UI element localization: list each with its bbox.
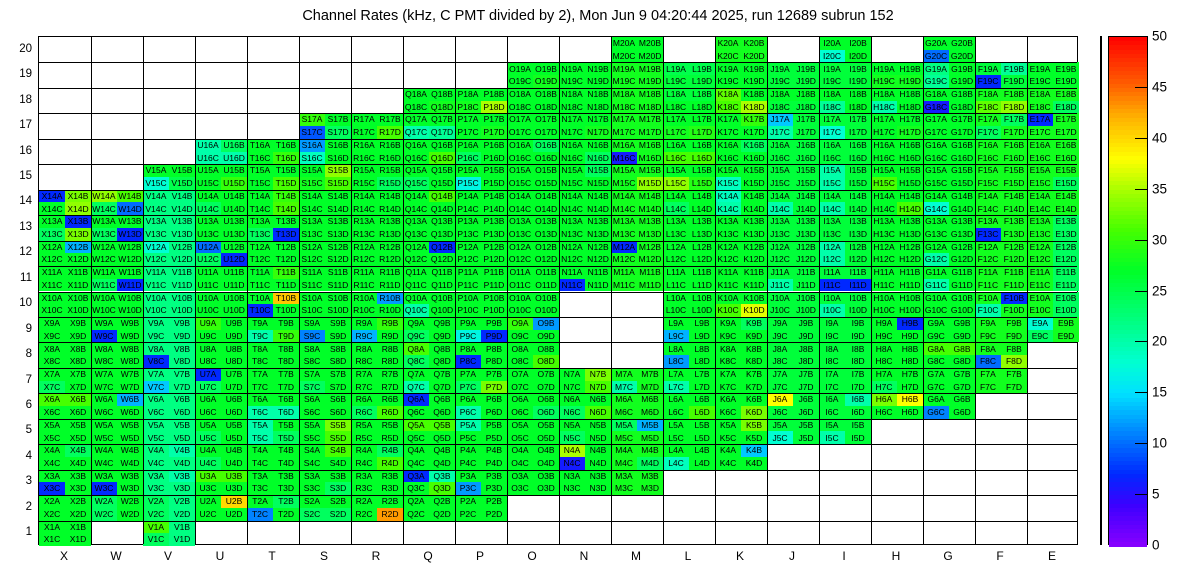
heatmap-cell: X6C: [39, 406, 65, 419]
heatmap-cell: R3D: [377, 482, 403, 495]
heatmap-cell: S2C: [299, 508, 325, 521]
heatmap-cell: O4B: [533, 444, 559, 457]
grid-line-horizontal: [39, 266, 1077, 267]
heatmap-cell: X1C: [39, 533, 65, 546]
heatmap-cell: Q9C: [403, 330, 429, 343]
heatmap-cell: L8D: [689, 355, 715, 368]
heatmap-cell: G15B: [949, 164, 975, 177]
heatmap-cell: U14B: [221, 190, 247, 203]
heatmap-cell: T8C: [247, 355, 273, 368]
heatmap-cell: K10B: [741, 292, 767, 305]
heatmap-cell: P15D: [481, 177, 507, 190]
heatmap-cell: X8D: [65, 355, 91, 368]
heatmap-cell: W12B: [117, 241, 143, 254]
heatmap-cell: L6A: [663, 393, 689, 406]
heatmap-cell: I6C: [819, 406, 845, 419]
heatmap-cell: V12A: [143, 241, 169, 254]
heatmap-cell: J9A: [767, 317, 793, 330]
heatmap-cell: F16D: [1001, 152, 1027, 165]
heatmap-cell: O16C: [507, 152, 533, 165]
heatmap-cell: H10C: [871, 304, 897, 317]
heatmap-cell: N5A: [559, 419, 585, 432]
heatmap-cell: U6B: [221, 393, 247, 406]
heatmap-cell: I15B: [845, 164, 871, 177]
heatmap-cell: P5B: [481, 419, 507, 432]
heatmap-cell: R7C: [351, 381, 377, 394]
heatmap-cell: J19A: [767, 62, 793, 75]
heatmap-cell: H12A: [871, 241, 897, 254]
heatmap-cell: X12B: [65, 241, 91, 254]
x-axis-labels: XWVUTSRQPONMLKJIHGFE: [38, 549, 1078, 569]
heatmap-cell: R17B: [377, 113, 403, 126]
heatmap-cell: M20B: [637, 37, 663, 50]
heatmap-cell: P5D: [481, 431, 507, 444]
heatmap-cell: F14B: [1001, 190, 1027, 203]
heatmap-cell: K20A: [715, 37, 741, 50]
heatmap-cell: X4C: [39, 457, 65, 470]
heatmap-cell: H12C: [871, 253, 897, 266]
heatmap-cell: E13D: [1053, 228, 1079, 241]
heatmap-cell: J16D: [793, 152, 819, 165]
heatmap-cell: Q13D: [429, 228, 455, 241]
heatmap-cell: O8B: [533, 342, 559, 355]
heatmap-cell: M3C: [611, 482, 637, 495]
heatmap-cell: S2B: [325, 495, 351, 508]
heatmap-cell: G7A: [923, 368, 949, 381]
heatmap-cell: N16C: [559, 152, 585, 165]
heatmap-cell: R4C: [351, 457, 377, 470]
heatmap-cell: T14D: [273, 202, 299, 215]
heatmap-cell: P13C: [455, 228, 481, 241]
heatmap-cell: R14A: [351, 190, 377, 203]
heatmap-cell: V13B: [169, 215, 195, 228]
heatmap-cell: K13D: [741, 228, 767, 241]
heatmap-cell: Q17D: [429, 126, 455, 139]
x-axis-tick-label: K: [714, 549, 766, 563]
heatmap-cell: P16A: [455, 139, 481, 152]
heatmap-cell: V9A: [143, 317, 169, 330]
heatmap-cell: Q15B: [429, 164, 455, 177]
heatmap-cell: Q4D: [429, 457, 455, 470]
heatmap-cell: M18B: [637, 88, 663, 101]
heatmap-cell: J11C: [767, 279, 793, 292]
heatmap-cell: S4B: [325, 444, 351, 457]
heatmap-cell: E15D: [1053, 177, 1079, 190]
heatmap-cell: F9C: [975, 330, 1001, 343]
heatmap-cell: F10B: [1001, 292, 1027, 305]
heatmap-cell: M7A: [611, 368, 637, 381]
heatmap-cell: L16D: [689, 152, 715, 165]
heatmap-cell: I8A: [819, 342, 845, 355]
heatmap-cell: I5C: [819, 431, 845, 444]
heatmap-cell: W10B: [117, 292, 143, 305]
heatmap-cell: O14C: [507, 202, 533, 215]
heatmap-cell: O16B: [533, 139, 559, 152]
heatmap-cell: P3B: [481, 470, 507, 483]
heatmap-cell: X14D: [65, 202, 91, 215]
heatmap-cell: U3C: [195, 482, 221, 495]
heatmap-cell: O11A: [507, 266, 533, 279]
heatmap-cell: E16B: [1053, 139, 1079, 152]
heatmap-cell: L17A: [663, 113, 689, 126]
heatmap-cell: S13C: [299, 228, 325, 241]
heatmap-cell: I17B: [845, 113, 871, 126]
y-axis-tick-label: 5: [6, 424, 32, 436]
heatmap-cell: H15D: [897, 177, 923, 190]
heatmap-cell: G20C: [923, 50, 949, 63]
heatmap-cell: T7A: [247, 368, 273, 381]
heatmap-cell: E17A: [1027, 113, 1053, 126]
heatmap-cell: I14C: [819, 202, 845, 215]
heatmap-cell: M18C: [611, 101, 637, 114]
grid-line-horizontal: [39, 419, 1077, 420]
heatmap-cell: X11D: [65, 279, 91, 292]
heatmap-cell: Q8B: [429, 342, 455, 355]
heatmap-cell: M19C: [611, 75, 637, 88]
heatmap-cell: T6D: [273, 406, 299, 419]
heatmap-cell: O3C: [507, 482, 533, 495]
heatmap-cell: K19D: [741, 75, 767, 88]
heatmap-cell: T11C: [247, 279, 273, 292]
heatmap-cell: X1D: [65, 533, 91, 546]
heatmap-cell: E13B: [1053, 215, 1079, 228]
heatmap-cell: N7C: [559, 381, 585, 394]
heatmap-cell: X2B: [65, 495, 91, 508]
heatmap-cell: P16C: [455, 152, 481, 165]
heatmap-cell: N3D: [585, 482, 611, 495]
heatmap-cell: N17D: [585, 126, 611, 139]
heatmap-cell: G7D: [949, 381, 975, 394]
heatmap-cell: U5A: [195, 419, 221, 432]
heatmap-cell: J12C: [767, 253, 793, 266]
heatmap-cell: T16A: [247, 139, 273, 152]
heatmap-cell: P12A: [455, 241, 481, 254]
heatmap-cell: E12B: [1053, 241, 1079, 254]
grid-line-horizontal: [39, 215, 1077, 216]
heatmap-cell: I19C: [819, 75, 845, 88]
heatmap-cell: H9B: [897, 317, 923, 330]
y-axis-tick-label: 11: [6, 272, 32, 284]
heatmap-cell: K18A: [715, 88, 741, 101]
heatmap-cell: M17D: [637, 126, 663, 139]
heatmap-cell: L11B: [689, 266, 715, 279]
heatmap-cell: F13D: [1001, 228, 1027, 241]
y-axis-tick-label: 3: [6, 475, 32, 487]
heatmap-cell: S17B: [325, 113, 351, 126]
heatmap-cell: H13D: [897, 228, 923, 241]
heatmap-cell: G6A: [923, 393, 949, 406]
y-axis-tick-label: 9: [6, 323, 32, 335]
heatmap-cell: G14A: [923, 190, 949, 203]
heatmap-cell: M20D: [637, 50, 663, 63]
heatmap-cell: M12D: [637, 253, 663, 266]
heatmap-cell: F18C: [975, 101, 1001, 114]
heatmap-cell: T5C: [247, 431, 273, 444]
heatmap-cell: R6A: [351, 393, 377, 406]
heatmap-cell: P15B: [481, 164, 507, 177]
heatmap-cell: P11C: [455, 279, 481, 292]
heatmap-cell: R4B: [377, 444, 403, 457]
heatmap-cell: G16B: [949, 139, 975, 152]
heatmap-cell: G16D: [949, 152, 975, 165]
heatmap-cell: W3A: [91, 470, 117, 483]
heatmap-cell: G13A: [923, 215, 949, 228]
heatmap-cell: F18B: [1001, 88, 1027, 101]
heatmap-cell: F18D: [1001, 101, 1027, 114]
heatmap-cell: O4D: [533, 457, 559, 470]
heatmap-cell: O19C: [507, 75, 533, 88]
heatmap-cell: G18C: [923, 101, 949, 114]
heatmap-cell: H15B: [897, 164, 923, 177]
heatmap-cell: M19B: [637, 62, 663, 75]
heatmap-cell: I18C: [819, 101, 845, 114]
heatmap-cell: E19B: [1053, 62, 1079, 75]
heatmap-cell: T8B: [273, 342, 299, 355]
heatmap-cell: T2D: [273, 508, 299, 521]
heatmap-cell: J19D: [793, 75, 819, 88]
heatmap-cell: M5C: [611, 431, 637, 444]
heatmap-cell: P16D: [481, 152, 507, 165]
heatmap-cell: S3C: [299, 482, 325, 495]
heatmap-cell: H12B: [897, 241, 923, 254]
heatmap-cell: N6A: [559, 393, 585, 406]
heatmap-cell: I16B: [845, 139, 871, 152]
heatmap-cell: M17A: [611, 113, 637, 126]
heatmap-cell: Q9B: [429, 317, 455, 330]
heatmap-cell: H10A: [871, 292, 897, 305]
heatmap-cell: T12B: [273, 241, 299, 254]
heatmap-cell: E10D: [1053, 304, 1079, 317]
heatmap-cell: H6A: [871, 393, 897, 406]
heatmap-cell: U9D: [221, 330, 247, 343]
heatmap-cell: E14A: [1027, 190, 1053, 203]
heatmap-cell: H8B: [897, 342, 923, 355]
heatmap-cell: L13B: [689, 215, 715, 228]
heatmap-cell: S6B: [325, 393, 351, 406]
heatmap-cell: F10C: [975, 304, 1001, 317]
heatmap-cell: L12A: [663, 241, 689, 254]
heatmap-cell: G8A: [923, 342, 949, 355]
heatmap-cell: U8C: [195, 355, 221, 368]
colorbar-tick-mark: [1135, 291, 1148, 292]
colorbar-tick-mark: [1135, 240, 1148, 241]
heatmap-cell: G15D: [949, 177, 975, 190]
heatmap-cell: R11D: [377, 279, 403, 292]
heatmap-cell: O3B: [533, 470, 559, 483]
heatmap-cell: E12C: [1027, 253, 1053, 266]
heatmap-cell: R13C: [351, 228, 377, 241]
x-axis-tick-label: F: [974, 549, 1026, 563]
heatmap-cell: H16C: [871, 152, 897, 165]
heatmap-cell: X1A: [39, 521, 65, 534]
heatmap-cell: E19C: [1027, 75, 1053, 88]
heatmap-cell: U16A: [195, 139, 221, 152]
heatmap-cell: V1D: [169, 533, 195, 546]
heatmap-cell: Q16B: [429, 139, 455, 152]
heatmap-cell: K20C: [715, 50, 741, 63]
heatmap-cell: I12D: [845, 253, 871, 266]
heatmap-cell: H7C: [871, 381, 897, 394]
heatmap-cell: I15C: [819, 177, 845, 190]
heatmap-cell: N18D: [585, 101, 611, 114]
heatmap-cell: V3C: [143, 482, 169, 495]
heatmap-cell: Q9A: [403, 317, 429, 330]
heatmap-cell: X10C: [39, 304, 65, 317]
heatmap-cell: J15C: [767, 177, 793, 190]
heatmap-cell: O9C: [507, 330, 533, 343]
colorbar-tick-label: 30: [1152, 232, 1167, 247]
heatmap-cell: W2B: [117, 495, 143, 508]
heatmap-cell: Q7D: [429, 381, 455, 394]
heatmap-cell: I13C: [819, 228, 845, 241]
heatmap-cell: Q14C: [403, 202, 429, 215]
heatmap-cell: H13C: [871, 228, 897, 241]
heatmap-cell: P6B: [481, 393, 507, 406]
y-axis-tick-label: 7: [6, 374, 32, 386]
heatmap-cell: F15D: [1001, 177, 1027, 190]
grid-line-horizontal: [39, 470, 1077, 471]
heatmap-cell: R6B: [377, 393, 403, 406]
heatmap-cell: N18C: [559, 101, 585, 114]
heatmap-cell: O15B: [533, 164, 559, 177]
colorbar-tick-label: 45: [1152, 79, 1167, 94]
heatmap-cell: H8C: [871, 355, 897, 368]
heatmap-cell: G17C: [923, 126, 949, 139]
heatmap-cell: L19C: [663, 75, 689, 88]
heatmap-cell: V7C: [143, 381, 169, 394]
heatmap-cell: V6D: [169, 406, 195, 419]
heatmap-cell: U10D: [221, 304, 247, 317]
heatmap-cell: N15A: [559, 164, 585, 177]
heatmap-cell: Q13C: [403, 228, 429, 241]
heatmap-cell: R14C: [351, 202, 377, 215]
heatmap-cell: T3B: [273, 470, 299, 483]
heatmap-cell: O13C: [507, 228, 533, 241]
heatmap-cell: F10D: [1001, 304, 1027, 317]
heatmap-cell: L15C: [663, 177, 689, 190]
heatmap-cell: T4A: [247, 444, 273, 457]
heatmap-cell: J9D: [793, 330, 819, 343]
heatmap-cell: W13D: [117, 228, 143, 241]
heatmap-cell: G20B: [949, 37, 975, 50]
heatmap-cell: J13C: [767, 228, 793, 241]
heatmap-cell: R4D: [377, 457, 403, 470]
heatmap-cell: N3C: [559, 482, 585, 495]
heatmap-cell: X5A: [39, 419, 65, 432]
heatmap-cell: S11B: [325, 266, 351, 279]
heatmap-cell: X2C: [39, 508, 65, 521]
heatmap-cell: L8C: [663, 355, 689, 368]
heatmap-cell: F10A: [975, 292, 1001, 305]
x-axis-tick-label: M: [610, 549, 662, 563]
heatmap-cell: M6A: [611, 393, 637, 406]
heatmap-cell: T10A: [247, 292, 273, 305]
heatmap-cell: K5C: [715, 431, 741, 444]
grid-line-horizontal: [39, 139, 1077, 140]
heatmap-cell: N7D: [585, 381, 611, 394]
heatmap-cell: O7A: [507, 368, 533, 381]
heatmap-cell: L18D: [689, 101, 715, 114]
heatmap-cell: L13C: [663, 228, 689, 241]
heatmap-cell: F15A: [975, 164, 1001, 177]
x-axis-tick-label: E: [1026, 549, 1078, 563]
heatmap-cell: X8A: [39, 342, 65, 355]
heatmap-cell: Q2A: [403, 495, 429, 508]
heatmap-cell: S14D: [325, 202, 351, 215]
heatmap-cell: R2B: [377, 495, 403, 508]
heatmap-cell: Q2D: [429, 508, 455, 521]
heatmap-cell: W11B: [117, 266, 143, 279]
heatmap-cell: V9D: [169, 330, 195, 343]
heatmap-cell: N13B: [585, 215, 611, 228]
heatmap-cell: J12D: [793, 253, 819, 266]
heatmap-cell: G14C: [923, 202, 949, 215]
heatmap-cell: O12C: [507, 253, 533, 266]
heatmap-cell: L13A: [663, 215, 689, 228]
heatmap-cell: M6B: [637, 393, 663, 406]
heatmap-cell: J15A: [767, 164, 793, 177]
heatmap-cell: L14B: [689, 190, 715, 203]
heatmap-cell: V15B: [169, 164, 195, 177]
heatmap-cell: L4D: [689, 457, 715, 470]
heatmap-cell: W2A: [91, 495, 117, 508]
heatmap-cell: O9B: [533, 317, 559, 330]
heatmap-cell: R8C: [351, 355, 377, 368]
heatmap-cell: P12B: [481, 241, 507, 254]
heatmap-cell: V12D: [169, 253, 195, 266]
heatmap-cell: H14B: [897, 190, 923, 203]
grid-line-horizontal: [39, 495, 1077, 496]
heatmap-cell: R11C: [351, 279, 377, 292]
heatmap-cell: O7B: [533, 368, 559, 381]
heatmap-cell: U14D: [221, 202, 247, 215]
heatmap-cell: V5B: [169, 419, 195, 432]
heatmap-cell: T14B: [273, 190, 299, 203]
heatmap-cell: J6B: [793, 393, 819, 406]
heatmap-cell: J19B: [793, 62, 819, 75]
heatmap-cell: O17B: [533, 113, 559, 126]
heatmap-cell: P3A: [455, 470, 481, 483]
x-axis-tick-label: G: [922, 549, 974, 563]
heatmap-cell: I16A: [819, 139, 845, 152]
heatmap-cell: G13D: [949, 228, 975, 241]
heatmap-cell: V3D: [169, 482, 195, 495]
colorbar-tick-label: 15: [1152, 385, 1167, 400]
heatmap-cell: Q4C: [403, 457, 429, 470]
heatmap-cell: G18D: [949, 101, 975, 114]
heatmap-cell: R8A: [351, 342, 377, 355]
heatmap-cell: F17B: [1001, 113, 1027, 126]
heatmap-cell: J8D: [793, 355, 819, 368]
heatmap-cell: O9D: [533, 330, 559, 343]
colorbar-tick-mark: [1135, 138, 1148, 139]
x-axis-tick-label: U: [194, 549, 246, 563]
heatmap-cell: H19B: [897, 62, 923, 75]
heatmap-cell: U2C: [195, 508, 221, 521]
x-axis-tick-label: R: [350, 549, 402, 563]
heatmap-cell: P4B: [481, 444, 507, 457]
heatmap-cell: X11A: [39, 266, 65, 279]
heatmap-cell: I14B: [845, 190, 871, 203]
y-axis-tick-label: 16: [6, 145, 32, 157]
heatmap-cell: K6A: [715, 393, 741, 406]
heatmap-cell: T7B: [273, 368, 299, 381]
heatmap-cell: J5D: [793, 431, 819, 444]
heatmap-cell: E12A: [1027, 241, 1053, 254]
heatmap-cell: W9B: [117, 317, 143, 330]
heatmap-cell: I20B: [845, 37, 871, 50]
heatmap-cell: X7C: [39, 381, 65, 394]
